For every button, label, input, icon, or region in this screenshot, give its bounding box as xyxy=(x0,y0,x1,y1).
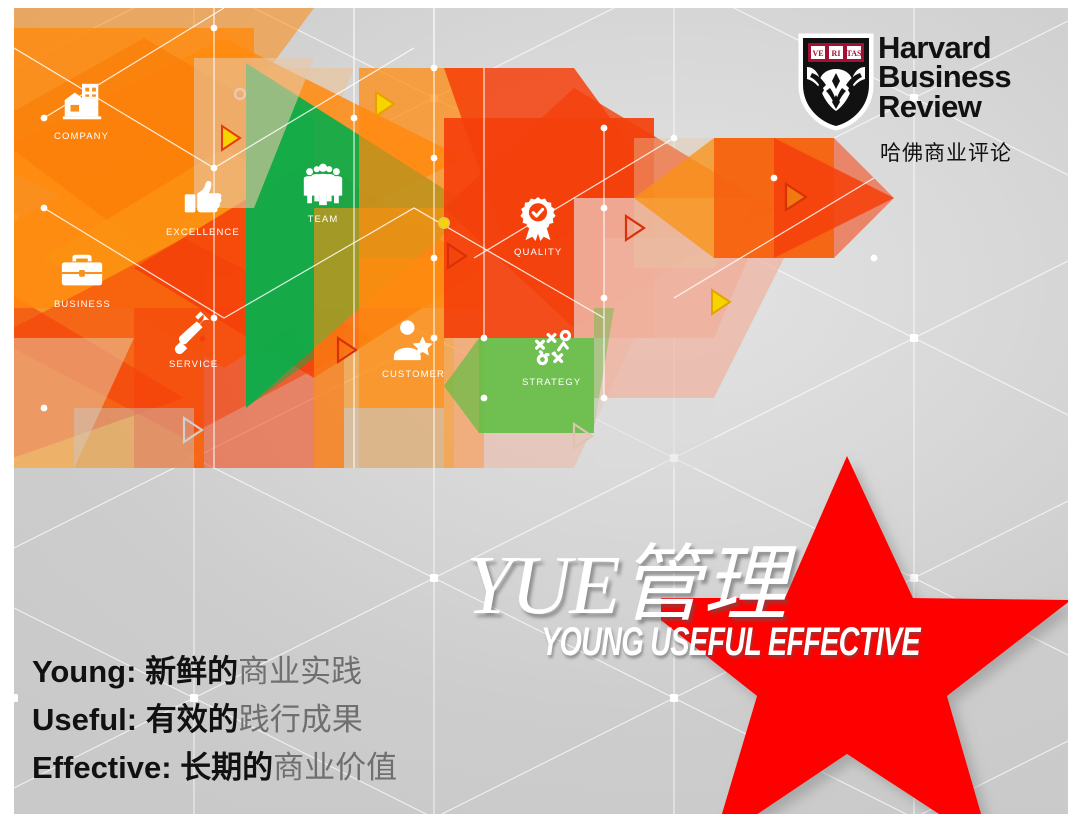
tagline-rest: 商业实践 xyxy=(238,654,362,690)
briefcase-icon xyxy=(59,248,105,294)
hbr-line-2: Business xyxy=(878,62,1011,91)
tagline-key: 有效的 xyxy=(146,702,239,738)
ring-marker xyxy=(439,218,449,228)
tagline-rest: 商业价值 xyxy=(273,750,397,786)
tagline-en: Young: xyxy=(32,654,136,689)
tile-label: EXCELLENCE xyxy=(166,227,240,238)
hbr-chinese-name: 哈佛商业评论 xyxy=(880,137,1012,167)
tile-business[interactable]: BUSINESS xyxy=(54,248,111,310)
tile-quality[interactable]: QUALITY xyxy=(514,196,562,258)
tagline-en: Useful: xyxy=(32,702,137,737)
svg-text:TAS: TAS xyxy=(847,49,863,58)
thumbs-up-icon xyxy=(180,176,226,222)
tile-label: TEAM xyxy=(308,214,339,225)
tile-company[interactable]: COMPANY xyxy=(54,80,109,142)
tile-label: QUALITY xyxy=(514,247,562,258)
building-icon xyxy=(59,80,105,126)
customer-icon xyxy=(391,318,437,364)
tile-team[interactable]: TEAM xyxy=(300,163,346,225)
award-icon xyxy=(515,196,561,242)
tile-label: SERVICE xyxy=(169,359,218,370)
tile-label: STRATEGY xyxy=(522,377,581,388)
strategy-icon xyxy=(529,326,575,372)
harvard-business-review-logo[interactable]: VE RI TAS Harvard xyxy=(798,33,1054,168)
tagline-row: Effective: 长期的商业价值 xyxy=(32,744,397,792)
tagline-key: 新鲜的 xyxy=(145,654,238,690)
hbr-line-1: Harvard xyxy=(878,33,1011,62)
tagline-key: 长期的 xyxy=(180,750,273,786)
hbr-wordmark: Harvard Business Review xyxy=(878,33,1011,121)
svg-text:VE: VE xyxy=(812,49,823,58)
harvard-shield-icon: VE RI TAS xyxy=(798,33,874,131)
red-star-shape xyxy=(661,448,1068,814)
tile-excellence[interactable]: EXCELLENCE xyxy=(166,176,240,238)
tagline-rest: 践行成果 xyxy=(239,702,363,738)
tile-strategy[interactable]: STRATEGY xyxy=(522,326,581,388)
tile-label: COMPANY xyxy=(54,131,109,142)
people-icon xyxy=(300,163,346,209)
tile-label: CUSTOMER xyxy=(382,369,445,380)
tile-label: BUSINESS xyxy=(54,299,111,310)
slide-canvas: COMPANY EXCELLENCE xyxy=(0,0,1080,838)
svg-text:RI: RI xyxy=(832,49,841,58)
tile-customer[interactable]: CUSTOMER xyxy=(382,318,445,380)
support-icon xyxy=(171,308,217,354)
tagline-list: Young: 新鲜的商业实践 Useful: 有效的践行成果 Effective… xyxy=(32,648,397,792)
tagline-en: Effective: xyxy=(32,750,172,785)
hbr-line-3: Review xyxy=(878,92,1011,121)
tagline-row: Useful: 有效的践行成果 xyxy=(32,696,397,744)
tile-service[interactable]: SERVICE xyxy=(169,308,218,370)
tagline-row: Young: 新鲜的商业实践 xyxy=(32,648,397,696)
slide-inner: COMPANY EXCELLENCE xyxy=(14,8,1068,814)
